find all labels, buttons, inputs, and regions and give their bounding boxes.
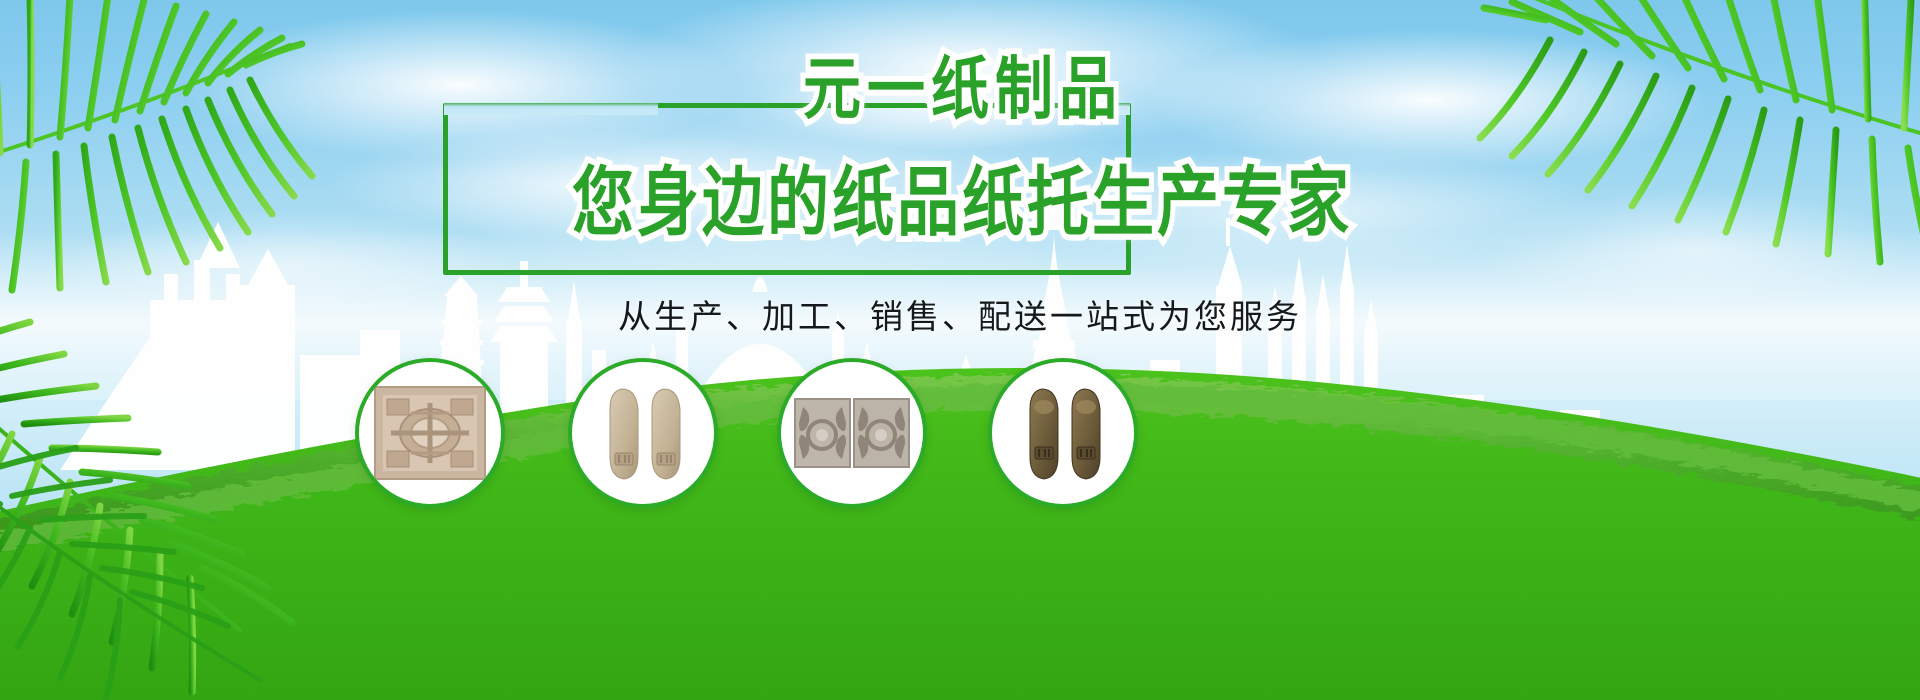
product-circle-1[interactable] (355, 358, 505, 508)
dark-pulp-shoe-tree-pair-icon (1004, 383, 1122, 483)
molded-pulp-packaging-pair-icon (793, 383, 911, 483)
product-circle-3[interactable] (777, 358, 927, 508)
product-circle-2[interactable] (568, 358, 718, 508)
promo-banner: 元一纸制品 您身边的纸品纸托生产专家 从生产、加工、销售、配送一站式为您服务 (0, 0, 1920, 700)
product-circle-4[interactable] (988, 358, 1138, 508)
product-circle-row (0, 0, 1920, 700)
paper-pulp-shoe-tree-pair-icon (584, 383, 702, 483)
molded-pulp-tray-square-icon (371, 383, 489, 483)
